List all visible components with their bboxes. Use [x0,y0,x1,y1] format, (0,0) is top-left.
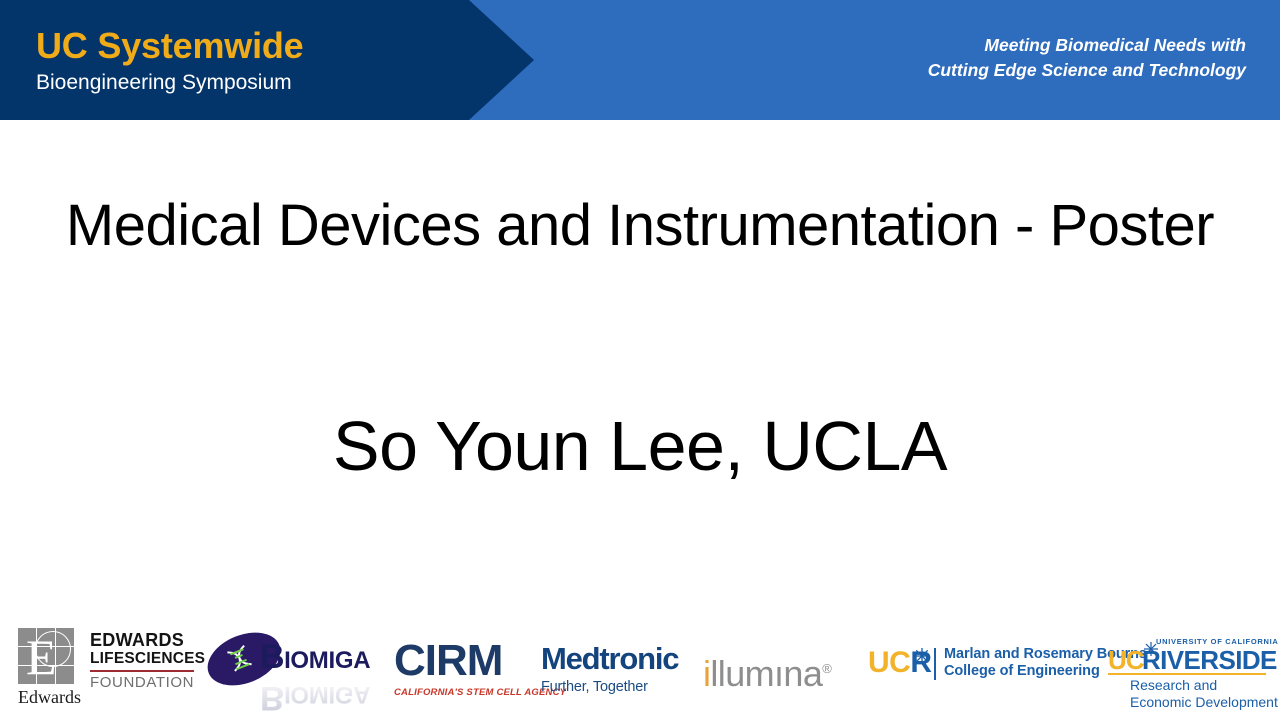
sponsor-logo-ucr-college-of-engineering: UCR Marlan and Rosemary Bourns College o… [868,646,1093,694]
symposium-branding: UC Systemwide Bioengineering Symposium [36,24,466,97]
edwards-divider-rule [90,670,194,672]
registered-trademark-icon: ® [822,661,831,676]
presentation-slide: UC Systemwide Bioengineering Symposium M… [0,0,1280,720]
ucriv-riverside-wordmark: RIVERSIDE [1142,646,1277,674]
ucr-uc: UC [868,646,910,679]
edwards-line-2: LIFESCIENCES [90,650,198,668]
edwards-line-3: FOUNDATION [90,674,198,692]
brand-subtitle: Bioengineering Symposium [36,69,466,97]
tagline-line-2: Cutting Edge Science and Technology [928,58,1246,83]
medtronic-wordmark: Medtronic [541,642,689,676]
ucriv-wordmark-row: UC RIVERSIDE UNIVERSITY OF CALIFORNIA [1108,640,1268,670]
ucriv-uc: UC [1108,646,1144,674]
session-title: Medical Devices and Instrumentation - Po… [64,192,1216,260]
sponsor-logo-medtronic: Medtronic Further, Together [541,642,689,698]
ucriv-gold-rule [1108,673,1266,675]
sponsor-logo-strip: E Edwards EDWARDS LIFESCIENCES FOUNDATIO… [0,612,1280,720]
edwards-e-letter: E [26,631,57,683]
header-tagline: Meeting Biomedical Needs with Cutting Ed… [928,33,1246,83]
edwards-lockup-text: EDWARDS LIFESCIENCES FOUNDATION [90,630,198,692]
medtronic-tagline: Further, Together [541,678,689,696]
ucriv-university-line: UNIVERSITY OF CALIFORNIA [1156,637,1279,646]
cirm-wordmark: CIRM [394,638,530,684]
sponsor-logo-biomiga: BIOMIGA BIOMIGA [206,632,382,710]
edwards-emblem-icon: E [18,628,74,684]
ucriv-sub-line-1: Research and [1130,677,1278,694]
ucriv-unit-lockup: Research and Economic Development [1130,677,1278,711]
sponsor-logo-uc-riverside-red: UC RIVERSIDE UNIVERSITY OF CALIFORNIA Re… [1108,640,1268,714]
brand-title: UC Systemwide [36,24,466,68]
edwards-wordmark: Edwards [18,686,81,708]
sponsor-logo-edwards-lifesciences-foundation: E Edwards EDWARDS LIFESCIENCES FOUNDATIO… [18,628,198,714]
biomiga-rest: IOMIGA [284,647,370,674]
ucriv-sub-line-2: Economic Development [1130,694,1278,711]
tagline-line-1: Meeting Biomedical Needs with [928,33,1246,58]
biomiga-b: B [260,638,284,676]
illumina-rest: llumına [710,653,822,694]
biomiga-wordmark-reflection: BIOMIGA [260,674,370,718]
sponsor-logo-cirm: CIRM CALIFORNIA'S STEM CELL AGENCY [394,638,530,698]
cirm-tagline: CALIFORNIA'S STEM CELL AGENCY [394,686,530,700]
illumina-wordmark: illumına® [703,648,855,695]
speaker-name: So Youn Lee, UCLA [64,400,1216,492]
sponsor-logo-illumina: illumına® [703,648,855,692]
ucr-vertical-divider [934,648,936,680]
edwards-line-1: EDWARDS [90,630,198,650]
slide-header-banner: UC Systemwide Bioengineering Symposium M… [0,0,1280,120]
sunburst-icon [914,648,930,664]
